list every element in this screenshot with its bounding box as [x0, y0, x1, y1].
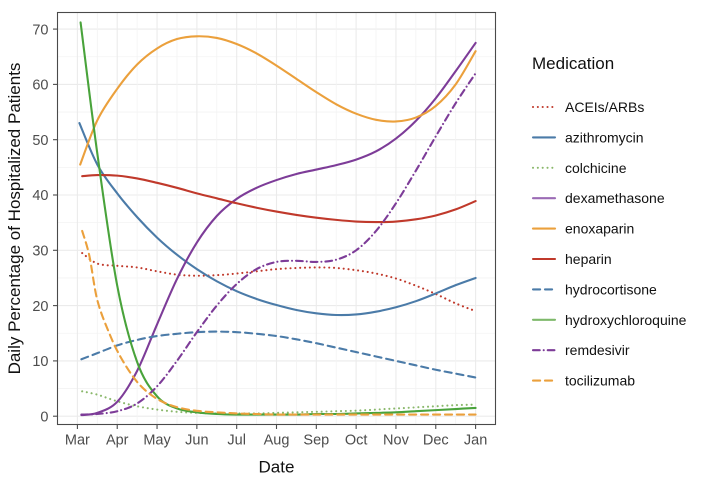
- legend-label: colchicine: [565, 160, 627, 176]
- x-tick-label: Apr: [106, 433, 129, 449]
- legend-title: Medication: [532, 54, 614, 73]
- x-tick-label: Jan: [464, 433, 487, 449]
- chart-figure: 010203040506070MarAprMayJunJulAugSepOctN…: [0, 0, 720, 479]
- x-tick-label: May: [143, 433, 171, 449]
- legend-label: hydroxychloroquine: [565, 312, 687, 328]
- y-tick-label: 70: [32, 22, 48, 38]
- x-tick-label: Jun: [185, 433, 208, 449]
- legend-label: remdesivir: [565, 342, 630, 358]
- x-tick-label: Mar: [65, 433, 90, 449]
- legend-label: dexamethasone: [565, 190, 665, 206]
- legend-label: ACEIs/ARBs: [565, 99, 644, 115]
- x-tick-label: Sep: [303, 433, 329, 449]
- y-tick-label: 10: [32, 354, 48, 370]
- legend-label: hydrocortisone: [565, 281, 657, 297]
- x-tick-label: Oct: [345, 433, 368, 449]
- y-tick-label: 40: [32, 188, 48, 204]
- y-tick-label: 50: [32, 133, 48, 149]
- legend-label: heparin: [565, 251, 612, 267]
- x-axis-title: Date: [259, 458, 295, 477]
- line-chart-svg: 010203040506070MarAprMayJunJulAugSepOctN…: [0, 0, 720, 479]
- y-tick-label: 0: [40, 409, 48, 425]
- x-tick-label: Dec: [423, 433, 449, 449]
- y-tick-label: 30: [32, 243, 48, 259]
- legend-label: azithromycin: [565, 129, 644, 145]
- legend-label: enoxaparin: [565, 221, 634, 237]
- y-tick-label: 20: [32, 299, 48, 315]
- x-tick-label: Nov: [383, 433, 410, 449]
- x-tick-label: Jul: [227, 433, 246, 449]
- x-tick-label: Aug: [264, 433, 290, 449]
- legend-label: tocilizumab: [565, 373, 635, 389]
- y-axis-title: Daily Percentage of Hospitalized Patient…: [5, 63, 24, 375]
- y-tick-label: 60: [32, 78, 48, 94]
